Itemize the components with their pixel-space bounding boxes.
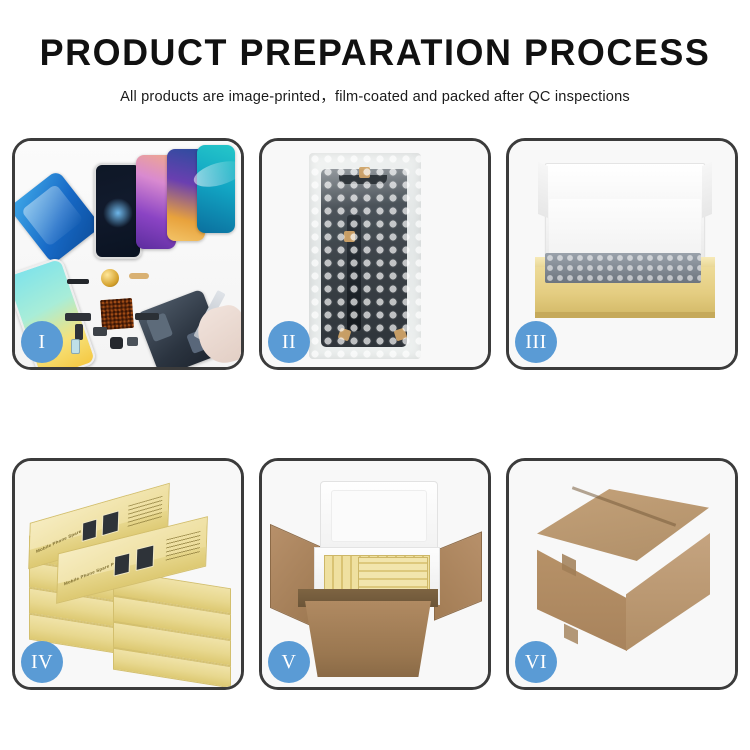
step-badge-3: III <box>515 321 557 363</box>
step-badge-5: V <box>268 641 310 683</box>
process-step-panel-2[interactable]: II <box>259 138 491 370</box>
foam-cooler-lid-image <box>320 481 438 553</box>
step-badge-4: IV <box>21 641 63 683</box>
process-step-panel-6[interactable]: VI <box>506 458 738 690</box>
part-flex-cable-1 <box>65 313 91 321</box>
carton-left-face-image <box>537 541 627 651</box>
box-screen-art-back-2 <box>102 510 120 536</box>
box-stack-image: Mobile Phone Spare Parts Mobile Phone Sp… <box>27 483 233 673</box>
black-front-glass-image <box>94 163 142 259</box>
box-screen-art-front-1 <box>114 552 131 576</box>
bubble-wrap-bag-image <box>309 153 421 359</box>
page-subtitle: All products are image-printed，film-coat… <box>0 85 750 106</box>
step-badge-6: VI <box>515 641 557 683</box>
carton-front-panel-image <box>298 601 438 677</box>
box-screen-art-front-2 <box>136 544 155 571</box>
camera-lens-image <box>101 269 119 287</box>
process-step-panel-5[interactable]: V <box>259 458 491 690</box>
part-speaker <box>110 337 123 349</box>
part-gold-flex <box>129 273 149 279</box>
carton-top-face-image <box>537 489 709 561</box>
step-badge-1: I <box>21 321 63 363</box>
part-battery-small <box>71 339 80 354</box>
process-step-grid: I II III <box>12 138 738 690</box>
logic-board-chip-image <box>100 298 134 330</box>
box-screen-art-back-1 <box>82 518 98 541</box>
step-badge-2: II <box>268 321 310 363</box>
part-flex-cable-3 <box>135 313 159 320</box>
part-module-2 <box>127 337 138 346</box>
bubble-texture-overlay <box>309 153 421 359</box>
page-header: PRODUCT PREPARATION PROCESS All products… <box>0 0 750 106</box>
carton-flap-right-image <box>434 531 482 620</box>
teal-phone-image <box>197 145 235 233</box>
process-step-panel-1[interactable]: I <box>12 138 244 370</box>
part-module-1 <box>93 327 107 336</box>
bubble-wrapped-contents-image <box>545 253 701 283</box>
process-step-panel-3[interactable]: III <box>506 138 738 370</box>
part-connector-1 <box>67 279 89 284</box>
page-title: PRODUCT PREPARATION PROCESS <box>11 34 739 73</box>
part-flex-cable-2 <box>75 324 83 340</box>
process-step-panel-4[interactable]: Mobile Phone Spare Parts Mobile Phone Sp… <box>12 458 244 690</box>
